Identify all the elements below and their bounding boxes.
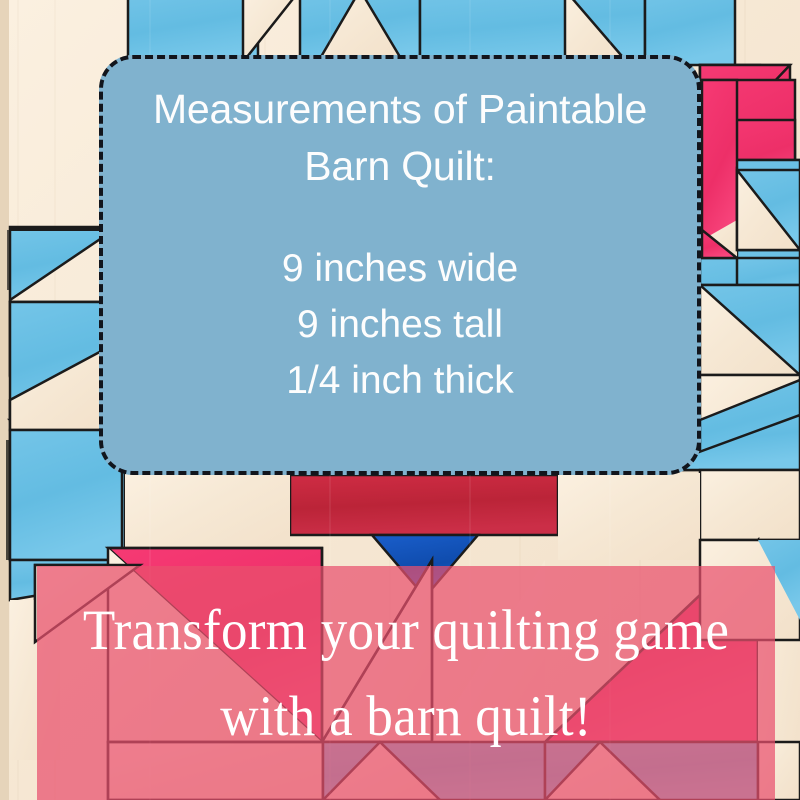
- card-spacer: [125, 195, 675, 241]
- poster-canvas: Measurements of Paintable Barn Quilt: 9 …: [0, 0, 800, 800]
- measurement-height: 9 inches tall: [125, 297, 675, 353]
- measurement-width: 9 inches wide: [125, 241, 675, 297]
- card-title-line-1: Measurements of Paintable: [125, 81, 675, 138]
- measurement-thickness: 1/4 inch thick: [125, 353, 675, 409]
- promo-line-1: Transform your quilting game: [63, 588, 749, 674]
- card-title-line-2: Barn Quilt:: [125, 138, 675, 195]
- promo-banner: Transform your quilting game with a barn…: [37, 566, 775, 800]
- measurements-card: Measurements of Paintable Barn Quilt: 9 …: [99, 55, 701, 475]
- promo-line-2: with a barn quilt!: [63, 674, 749, 760]
